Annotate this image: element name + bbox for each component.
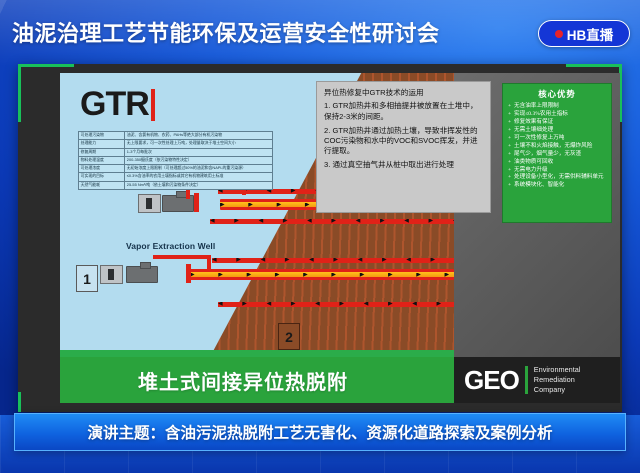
live-dot-icon: [555, 30, 563, 38]
heating-pipe-lower: ▶ ▶ ▶ ▶ ▶ ▶ ▶ ▶ ▶ ▶: [190, 269, 454, 280]
live-badge[interactable]: HB直播: [538, 20, 630, 47]
slide-title-bar: 堆土式间接异位热脱附: [60, 357, 454, 403]
gtr-logo: GTR: [80, 85, 155, 124]
advantages-panel: 核心优势 无含油率上限限制 实现≤0.3%农用土指标 修复效果有保证 无需土壤细…: [502, 83, 612, 223]
spec-value: 无初始浓度上限限制（可处理超过50%的油泥和含NAPL的重污染源）: [125, 165, 273, 173]
callout-1[interactable]: 1: [76, 265, 98, 292]
well-control-box: [138, 194, 161, 213]
geo-logo: GEO Environmental Remediation Company: [454, 357, 620, 403]
heat-flow-row: ◀ ▶ ◀ ▶ ◀ ▶ ◀ ▶ ◀ ▶ ◀ ▶: [212, 258, 454, 263]
gtr-logo-bar-icon: [151, 89, 155, 121]
slide-canvas: ◀ ▶ ◀ ▶ ◀ ▶ ◀ ▶ ◀ ▶ ◀ ▶ ◀ ▶ ◀ ▶ ◀ ▶ ◀ ▶ …: [60, 73, 620, 403]
list-item: 土壤不和火焰接触，无爆炸风险: [508, 143, 606, 151]
heating-well-lower: [100, 263, 195, 291]
spec-value: 无上限要求，可一次性处理上万吨，处理量取决于堆土空间大小: [125, 140, 273, 148]
well-control-box: [100, 265, 123, 284]
vapor-extraction-well-label: Vapor Extraction Well: [126, 241, 215, 251]
table-row: 可处理浓度 无初始浓度上限限制（可处理超过50%的油泥和含NAPL的重污染源）: [79, 165, 273, 173]
spec-key: 修复周期: [79, 148, 125, 156]
heat-flow-arrows: ◀ ▶ ◀ ▶ ◀ ▶ ◀ ▶ ◀ ▶ ◀ ▶: [212, 258, 454, 263]
spec-value: 1-3个月每批次: [125, 148, 273, 156]
spec-key: 可处理浓度: [79, 165, 125, 173]
table-row: 可实现的目标 ≤0.3%含油率的农用土壤指标或其它有机物建筑用土标准: [79, 173, 273, 181]
frame-accent-left: [18, 64, 21, 122]
table-row: 可处理污染物 油泥、含氯有机物、农药、PAHs等绝大部分有机污染物: [79, 132, 273, 140]
spec-value: 200-350摄氏度（依污染物特性决定）: [125, 156, 273, 164]
geo-logo-rule: [525, 366, 528, 394]
geo-logo-line: Company: [534, 385, 581, 395]
geo-logo-line: Environmental: [534, 365, 581, 375]
list-item: 油类物质可回收: [508, 159, 606, 167]
explanation-item: 1. GTR加热井和多相抽提井被放置在土堆中，保持2-3米的间距。: [324, 101, 483, 121]
header-bar: 油泥治理工艺节能环保及运营安全性研讨会 HB直播: [0, 0, 640, 62]
heating-well-upper: [138, 191, 228, 219]
explanation-title: 异位热修复中GTR技术的运用: [324, 88, 483, 97]
gtr-logo-text: GTR: [80, 85, 149, 124]
geo-logo-line: Remediation: [534, 375, 581, 385]
spec-table-body: 可处理污染物 油泥、含氯有机物、农药、PAHs等绝大部分有机污染物 处理能力 无…: [79, 132, 273, 190]
well-cap: [194, 193, 199, 212]
spec-key: 可实现的目标: [79, 173, 125, 181]
list-item: 可一次性修复上万吨: [508, 135, 606, 143]
table-row: 物料处理温度 200-350摄氏度（依污染物特性决定）: [79, 156, 273, 164]
list-item: 尾气少，烟气量少，无灰渣: [508, 151, 606, 159]
geo-logo-word: GEO: [464, 365, 519, 396]
table-row: 天然气能耗 25-55 Nm³/吨（依土壤和污染物条件决定）: [79, 181, 273, 189]
list-item: 无含油率上限限制: [508, 103, 606, 111]
slide-frame[interactable]: ◀ ▶ ◀ ▶ ◀ ▶ ◀ ▶ ◀ ▶ ◀ ▶ ◀ ▶ ◀ ▶ ◀ ▶ ◀ ▶ …: [18, 64, 622, 412]
heat-flow-arrows: ◀ ▶ ◀ ▶ ◀ ▶ ◀ ▶ ◀ ▶ ◀ ▶: [210, 219, 454, 224]
spec-table: 可处理污染物 油泥、含氯有机物、农药、PAHs等绝大部分有机污染物 处理能力 无…: [78, 131, 273, 190]
explanation-item: 3. 通过真空抽气井从桩中取出进行处理: [324, 160, 483, 170]
grass-strip: [60, 350, 454, 357]
frame-accent-top-right: [566, 64, 622, 67]
list-item: 系统模块化、智能化: [508, 182, 606, 190]
heat-flow-arrows: ◀ ▶ ◀ ▶ ◀ ▶ ◀ ▶ ◀ ▶ ◀ ▶: [218, 302, 454, 307]
well-stub: [140, 262, 151, 269]
vacuum-riser-horizontal-lower: [153, 255, 211, 259]
footer-caption-bar: 演讲主题：含油污泥热脱附工艺无害化、资源化道路探索及案例分析: [14, 413, 626, 451]
slide-title: 堆土式间接异位热脱附: [138, 366, 348, 395]
list-item: 实现≤0.3%农用土指标: [508, 111, 606, 119]
spec-key: 天然气能耗: [79, 181, 125, 189]
advantages-title: 核心优势: [508, 88, 606, 100]
frame-accent-bottom-left: [18, 392, 21, 412]
explanation-item: 2. GTR加热井通过加热土壤，导致非挥发性的COC污染物和水中的VOC和SVO…: [324, 126, 483, 156]
callout-2[interactable]: 2: [278, 323, 300, 350]
spec-key: 可处理污染物: [79, 132, 125, 140]
spec-value: ≤0.3%含油率的农用土壤指标或其它有机物建筑用土标准: [125, 173, 273, 181]
vacuum-riser-drop-lower: [207, 255, 211, 271]
well-cap: [186, 264, 191, 283]
spec-key: 物料处理温度: [79, 156, 125, 164]
spec-value: 油泥、含氯有机物、农药、PAHs等绝大部分有机污染物: [125, 132, 273, 140]
explanation-panel: 异位热修复中GTR技术的运用 1. GTR加热井和多相抽提井被放置在土堆中，保持…: [316, 81, 491, 213]
heat-flow-row: ◀ ▶ ◀ ▶ ◀ ▶ ◀ ▶ ◀ ▶ ◀ ▶: [218, 302, 454, 307]
list-item: 修复效果有保证: [508, 119, 606, 127]
frame-accent-top-left: [18, 64, 74, 67]
geo-logo-subtitle: Environmental Remediation Company: [534, 365, 581, 395]
screen: 油泥治理工艺节能环保及运营安全性研讨会 HB直播 ◀ ▶ ◀ ▶ ◀ ▶ ◀ ▶…: [0, 0, 640, 473]
heat-flow-row: ◀ ▶ ◀ ▶ ◀ ▶ ◀ ▶ ◀ ▶ ◀ ▶: [210, 219, 454, 224]
page-title: 油泥治理工艺节能环保及运营安全性研讨会: [12, 16, 440, 48]
spec-key: 处理能力: [79, 140, 125, 148]
live-badge-label: HB直播: [567, 24, 614, 44]
table-row: 修复周期 1-3个月每批次: [79, 148, 273, 156]
footer-caption-text: 演讲主题：含油污泥热脱附工艺无害化、资源化道路探索及案例分析: [87, 421, 552, 443]
list-item: 无需土壤细处理: [508, 127, 606, 135]
spec-value: 25-55 Nm³/吨（依土壤和污染物条件决定）: [125, 181, 273, 189]
table-row: 处理能力 无上限要求，可一次性处理上万吨，处理量取决于堆土空间大小: [79, 140, 273, 148]
pipe-flow-arrows: ▶ ▶ ▶ ▶ ▶ ▶ ▶ ▶ ▶ ▶: [190, 273, 454, 277]
